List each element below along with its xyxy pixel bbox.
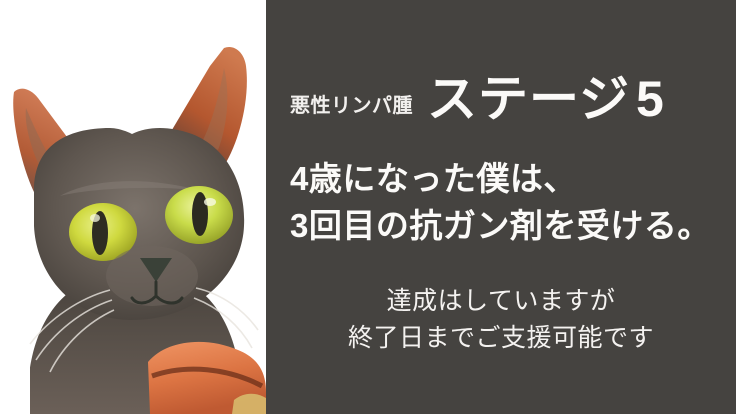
headline-stage: ステージ5 [427, 74, 665, 124]
headline-stage-number: 5 [636, 71, 665, 127]
photo-panel [0, 0, 266, 414]
footer-block: 達成はしていますが 終了日までご支援可能です [266, 283, 736, 357]
body-line-1: 4歳になった僕は、 [290, 155, 730, 202]
footer-line-2: 終了日までご支援可能です [266, 320, 736, 357]
campaign-banner: 悪性リンパ腫 ステージ5 4歳になった僕は、 3回目の抗ガン剤を受ける。 達成は… [0, 0, 736, 414]
body-block: 4歳になった僕は、 3回目の抗ガン剤を受ける。 [290, 155, 730, 249]
cat-illustration [0, 0, 266, 414]
headline-stage-word: ステージ [427, 71, 630, 127]
body-line-2: 3回目の抗ガン剤を受ける。 [290, 202, 730, 249]
cat-photo [0, 0, 266, 414]
text-panel: 悪性リンパ腫 ステージ5 4歳になった僕は、 3回目の抗ガン剤を受ける。 達成は… [266, 0, 736, 414]
cat-eye-right-glint [204, 198, 216, 206]
headline-row: 悪性リンパ腫 ステージ5 [266, 74, 736, 136]
footer-line-1: 達成はしていますが [266, 283, 736, 320]
cat-pupil-right [192, 192, 208, 236]
headline-small-label: 悪性リンパ腫 [290, 96, 413, 116]
cat-eye-left-glint [90, 214, 100, 222]
